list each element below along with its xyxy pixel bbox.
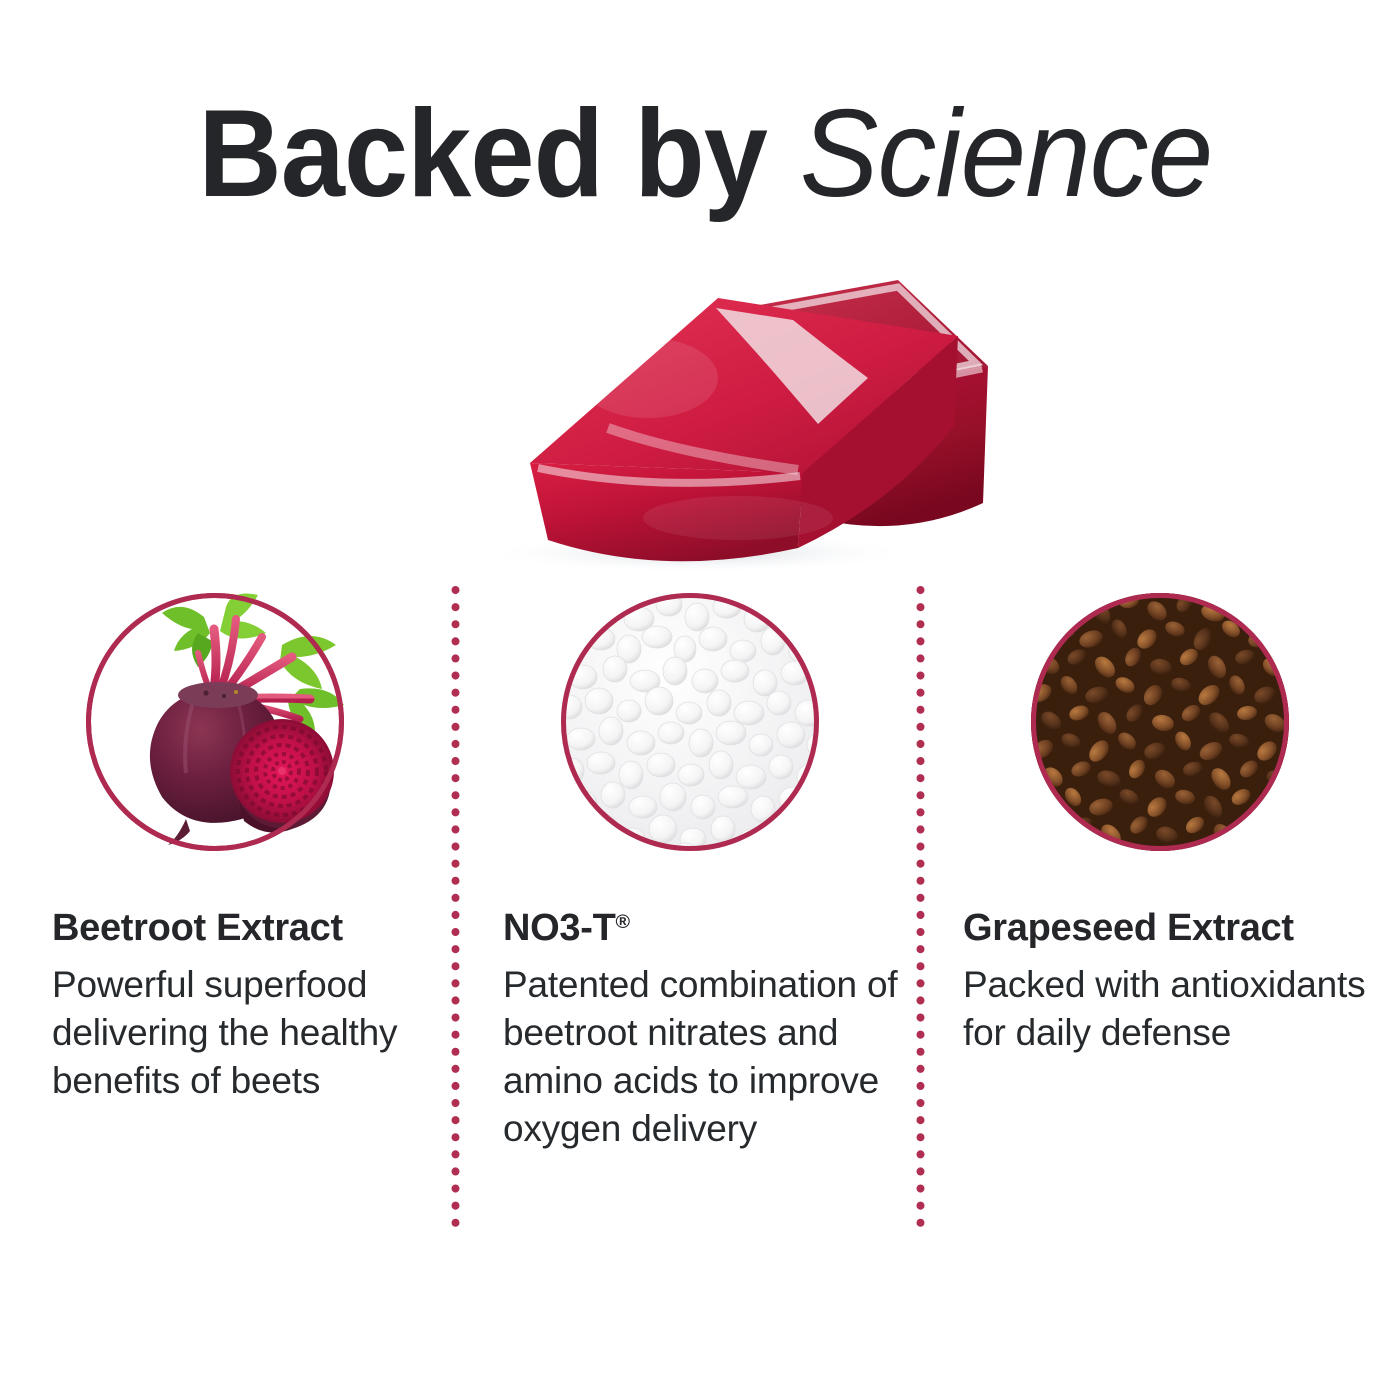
circle-beetroot: [86, 593, 344, 851]
circle-grapeseed: [1031, 593, 1289, 851]
column-body-grapeseed: Packed with antioxidants for daily defen…: [963, 961, 1393, 1057]
column-divider-1: [451, 586, 460, 1228]
title-bold-part: Backed by: [199, 92, 768, 216]
registered-trademark-icon: ®: [616, 911, 630, 933]
column-beetroot: Beetroot Extract Powerful superfood deli…: [52, 908, 452, 1105]
column-divider-2: [916, 586, 925, 1228]
column-heading-beetroot: Beetroot Extract: [52, 908, 452, 949]
hero-gummy-image: [398, 248, 998, 578]
title-italic-part: Science: [799, 92, 1211, 216]
ingredient-icons-row: [0, 593, 1400, 855]
column-no3t: NO3-T® Patented combination of beetroot …: [503, 908, 903, 1153]
page-title: Backed by Science: [0, 92, 1400, 216]
beetroot-photo: [86, 593, 344, 851]
white-granules-photo: [561, 593, 819, 851]
circle-no3t-granules: [561, 593, 819, 851]
column-heading-no3t: NO3-T®: [503, 908, 903, 949]
column-grapeseed: Grapeseed Extract Packed with antioxidan…: [963, 908, 1393, 1057]
heading-text-no3t: NO3-T: [503, 907, 616, 949]
column-heading-grapeseed: Grapeseed Extract: [963, 908, 1393, 949]
column-body-no3t: Patented combination of beetroot nitrate…: [503, 961, 903, 1153]
column-body-beetroot: Powerful superfood delivering the health…: [52, 961, 452, 1105]
grapeseed-photo: [1031, 593, 1289, 851]
